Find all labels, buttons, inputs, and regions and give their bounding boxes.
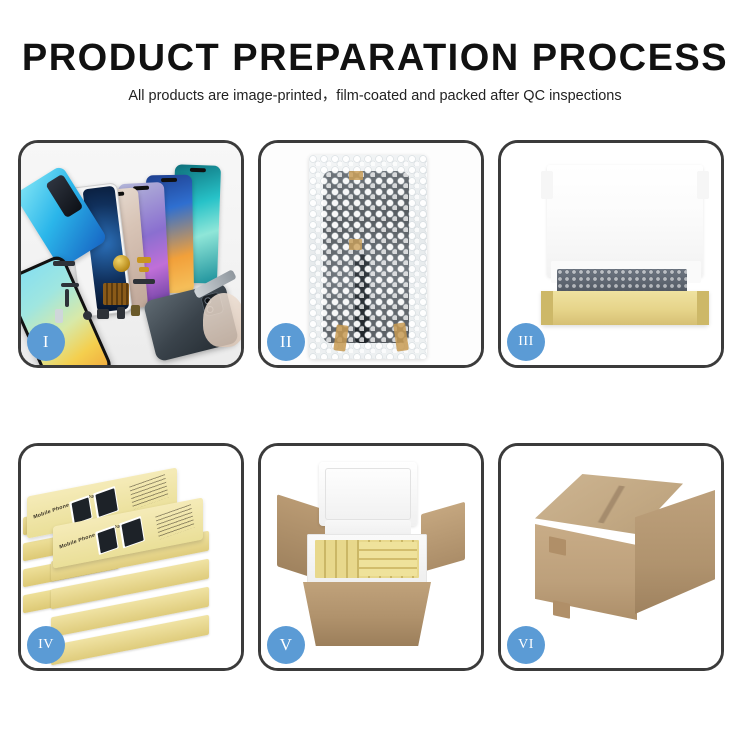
process-step-card-2[interactable]: II	[258, 140, 484, 368]
step-badge-2: II	[267, 323, 305, 361]
process-steps-grid: I II	[18, 140, 732, 680]
box-window-2b	[119, 516, 145, 549]
component-flex-icon	[65, 289, 69, 307]
step-badge-3: III	[507, 323, 545, 361]
component-strip-icon	[61, 283, 79, 287]
product-preparation-process-page: PRODUCT PREPARATION PROCESS All products…	[0, 0, 750, 750]
bubble-wrap-bag-icon	[309, 155, 427, 359]
box-text-lines-2	[155, 504, 194, 540]
battery-cell-icon	[55, 309, 63, 323]
header: PRODUCT PREPARATION PROCESS All products…	[0, 36, 750, 105]
component-round-icon	[83, 311, 92, 320]
page-subtitle: All products are image-printed，film-coat…	[0, 87, 750, 105]
carton-tape-1-icon	[549, 536, 566, 556]
step-badge-6: VI	[507, 626, 545, 664]
process-step-card-6[interactable]: VI	[498, 443, 724, 671]
process-step-card-4[interactable]: Mobile Phone Spare Parts Mobile Phone Sp…	[18, 443, 244, 671]
process-step-card-3[interactable]: III	[498, 140, 724, 368]
step-badge-1: I	[27, 323, 65, 361]
speaker-module-icon	[113, 255, 130, 272]
carton-body-icon	[303, 582, 431, 646]
gold-connector-icon	[137, 257, 151, 263]
box-window-2a	[95, 525, 119, 555]
gold-connector-2-icon	[139, 267, 149, 272]
component-bar-icon	[53, 261, 75, 266]
hand-icon	[203, 293, 241, 347]
bubble-texture-icon	[309, 155, 427, 359]
page-title: PRODUCT PREPARATION PROCESS	[0, 36, 750, 80]
process-step-card-5[interactable]: V	[258, 443, 484, 671]
step-badge-4: IV	[27, 626, 65, 664]
carton-tape-2-icon	[553, 600, 570, 619]
camera-module-icon	[117, 307, 125, 319]
tape-piece-2-icon	[349, 239, 362, 250]
yellow-box-base-icon	[541, 291, 709, 325]
process-step-card-1[interactable]: I	[18, 140, 244, 368]
carton-flap-right-icon	[421, 502, 465, 573]
yellow-boxes-row-2-icon	[359, 542, 417, 576]
foam-lid-open-icon	[319, 462, 417, 526]
tape-piece-1-icon	[349, 171, 363, 180]
chip-grid-icon	[103, 283, 129, 305]
step-badge-5: V	[267, 626, 305, 664]
component-strip-2-icon	[133, 279, 155, 284]
component-square-icon	[97, 309, 109, 319]
sim-tray-icon	[131, 305, 140, 316]
